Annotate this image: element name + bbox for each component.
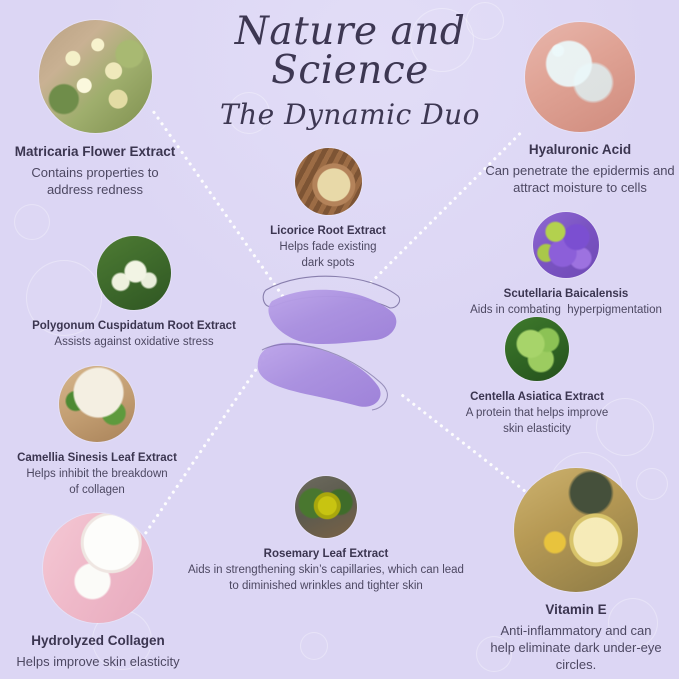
rosemary-description: Aids in strengthening skin’s capillaries… xyxy=(182,563,470,593)
matricaria-image xyxy=(39,20,152,133)
vitamine-name: Vitamin E xyxy=(478,602,674,619)
camellia-image xyxy=(59,366,135,442)
vitamine-description: Anti-inflammatory and can help eliminate… xyxy=(478,622,674,673)
ingredient-polygonum: Polygonum Cuspidatum Root Extract Assist… xyxy=(10,236,258,351)
licorice-image xyxy=(295,148,362,215)
rosemary-image xyxy=(295,476,357,538)
ingredient-matricaria: Matricaria Flower Extract Contains prope… xyxy=(0,20,190,198)
ingredient-hyaluronic: Hyaluronic Acid Can penetrate the epider… xyxy=(481,22,679,196)
ingredient-vitamine: Vitamin E Anti-inflammatory and can help… xyxy=(478,468,674,673)
centella-name: Centella Asiatica Extract xyxy=(432,390,642,404)
scutellaria-name: Scutellaria Baicalensis xyxy=(453,287,679,301)
polygonum-name: Polygonum Cuspidatum Root Extract xyxy=(10,319,258,333)
collagen-name: Hydrolyzed Collagen xyxy=(4,633,192,650)
rosemary-name: Rosemary Leaf Extract xyxy=(182,547,470,561)
collagen-image xyxy=(43,513,153,623)
licorice-description: Helps fade existing dark spots xyxy=(253,240,403,270)
centella-description: A protein that helps improve skin elasti… xyxy=(432,406,642,436)
licorice-name: Licorice Root Extract xyxy=(253,224,403,238)
hyaluronic-description: Can penetrate the epidermis and attract … xyxy=(481,162,679,196)
hyaluronic-image xyxy=(525,22,635,132)
ingredient-rosemary: Rosemary Leaf Extract Aids in strengthen… xyxy=(182,476,470,594)
polygonum-image xyxy=(97,236,171,310)
eye-patches-graphic xyxy=(252,268,422,433)
centella-image xyxy=(505,317,569,381)
camellia-name: Camellia Sinesis Leaf Extract xyxy=(8,451,186,465)
ingredient-scutellaria: Scutellaria Baicalensis Aids in combatin… xyxy=(453,212,679,319)
vitamine-image xyxy=(514,468,638,592)
camellia-description: Helps inhibit the breakdown of collagen xyxy=(8,467,186,497)
ingredient-centella: Centella Asiatica Extract A protein that… xyxy=(432,317,642,437)
ingredient-licorice: Licorice Root Extract Helps fade existin… xyxy=(253,148,403,271)
polygonum-description: Assists against oxidative stress xyxy=(10,335,258,350)
infographic-canvas: Nature and Science The Dynamic Duo Matri… xyxy=(0,0,679,679)
ingredient-camellia: Camellia Sinesis Leaf Extract Helps inhi… xyxy=(8,366,186,498)
collagen-description: Helps improve skin elasticity xyxy=(4,653,192,670)
hyaluronic-name: Hyaluronic Acid xyxy=(481,142,679,159)
scutellaria-image xyxy=(533,212,599,278)
bubble-decor xyxy=(300,632,328,660)
bubble-decor xyxy=(14,204,50,240)
matricaria-name: Matricaria Flower Extract xyxy=(0,144,190,161)
ingredient-collagen: Hydrolyzed Collagen Helps improve skin e… xyxy=(4,513,192,670)
matricaria-description: Contains properties to address redness xyxy=(0,164,190,198)
